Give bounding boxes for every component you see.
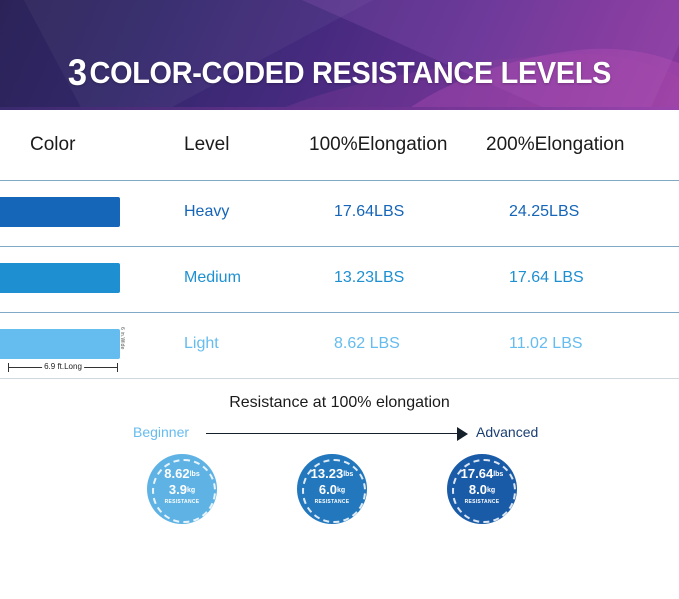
dial-kg-line: 3.9kg xyxy=(147,483,217,496)
dial-kg-unit: kg xyxy=(187,487,195,494)
color-swatch-light xyxy=(0,329,120,359)
band-length-label: 6.9 ft.Long xyxy=(42,360,84,374)
dial-kg-line: 6.0kg xyxy=(297,483,367,496)
title-count: 3 xyxy=(68,52,87,93)
dial-kg-unit: kg xyxy=(337,487,345,494)
cell-200-elongation: 17.64 LBS xyxy=(509,269,584,287)
dial-lbs-line: 8.62lbs xyxy=(147,467,217,480)
column-header-100-elongation: 100%Elongation xyxy=(309,134,447,156)
table-row: Heavy 17.64LBS 24.25LBS xyxy=(0,181,679,246)
cell-200-elongation: 11.02 LBS xyxy=(509,335,583,353)
resistance-dial-medium: 13.23lbs 6.0kg RESISTANCE xyxy=(297,454,367,524)
dial-lbs-line: 17.64lbs xyxy=(447,467,517,480)
dial-kg-unit: kg xyxy=(487,487,495,494)
cell-200-elongation: 24.25LBS xyxy=(509,203,579,221)
column-header-color: Color xyxy=(30,134,75,156)
table-row: Medium 13.23LBS 17.64 LBS xyxy=(0,247,679,312)
color-swatch-heavy xyxy=(0,197,120,227)
dial-values: 8.62lbs 3.9kg RESISTANCE xyxy=(147,467,217,505)
dial-values: 13.23lbs 6.0kg RESISTANCE xyxy=(297,467,367,505)
resistance-table: Color Level 100%Elongation 200%Elongatio… xyxy=(0,110,679,379)
arrow-head-icon xyxy=(457,427,468,441)
dial-lbs-value: 8.62 xyxy=(164,466,189,481)
cell-100-elongation: 8.62 LBS xyxy=(334,335,400,353)
cell-100-elongation: 17.64LBS xyxy=(334,203,404,221)
table-row: 6 in.Wide 6.9 ft.Long Light 8.62 LBS 11.… xyxy=(0,313,679,378)
dimension-cap-left xyxy=(8,363,9,372)
resistance-dials: 8.62lbs 3.9kg RESISTANCE 13.23lbs 6.0kg … xyxy=(0,454,679,544)
dimension-cap-right xyxy=(117,363,118,372)
dial-lbs-line: 13.23lbs xyxy=(297,467,367,480)
dial-kg-value: 3.9 xyxy=(169,482,187,497)
label-advanced: Advanced xyxy=(476,424,538,440)
band-width-label: 6 in.Wide xyxy=(119,327,124,350)
dial-lbs-unit: lbs xyxy=(343,471,353,478)
dial-caption: RESISTANCE xyxy=(297,500,367,505)
progression-section: Resistance at 100% elongation Beginner A… xyxy=(0,379,679,549)
title-text: COLOR-CODED RESISTANCE LEVELS xyxy=(90,55,612,90)
dial-caption: RESISTANCE xyxy=(147,500,217,505)
band-length-dimension: 6.9 ft.Long xyxy=(8,360,118,374)
resistance-dial-heavy: 17.64lbs 8.0kg RESISTANCE xyxy=(447,454,517,524)
label-beginner: Beginner xyxy=(133,424,189,440)
table-header-row: Color Level 100%Elongation 200%Elongatio… xyxy=(0,110,679,180)
cell-100-elongation: 13.23LBS xyxy=(334,269,404,287)
dial-lbs-unit: lbs xyxy=(190,471,200,478)
resistance-dial-light: 8.62lbs 3.9kg RESISTANCE xyxy=(147,454,217,524)
dial-values: 17.64lbs 8.0kg RESISTANCE xyxy=(447,467,517,505)
dial-lbs-unit: lbs xyxy=(493,471,503,478)
dial-lbs-value: 17.64 xyxy=(461,466,494,481)
cell-level: Heavy xyxy=(184,203,229,221)
progression-arrow-row: Beginner Advanced xyxy=(0,423,679,445)
header-banner: 3COLOR-CODED RESISTANCE LEVELS xyxy=(0,0,679,110)
column-header-level: Level xyxy=(184,134,229,156)
dial-kg-value: 8.0 xyxy=(469,482,487,497)
column-header-200-elongation: 200%Elongation xyxy=(486,134,624,156)
dial-caption: RESISTANCE xyxy=(447,500,517,505)
dial-kg-line: 8.0kg xyxy=(447,483,517,496)
cell-level: Light xyxy=(184,335,219,353)
page-title: 3COLOR-CODED RESISTANCE LEVELS xyxy=(24,52,655,94)
color-swatch-medium xyxy=(0,263,120,293)
dial-lbs-value: 13.23 xyxy=(311,466,344,481)
cell-level: Medium xyxy=(184,269,241,287)
progression-arrow-line xyxy=(206,433,466,434)
progression-title: Resistance at 100% elongation xyxy=(0,394,679,412)
dial-kg-value: 6.0 xyxy=(319,482,337,497)
